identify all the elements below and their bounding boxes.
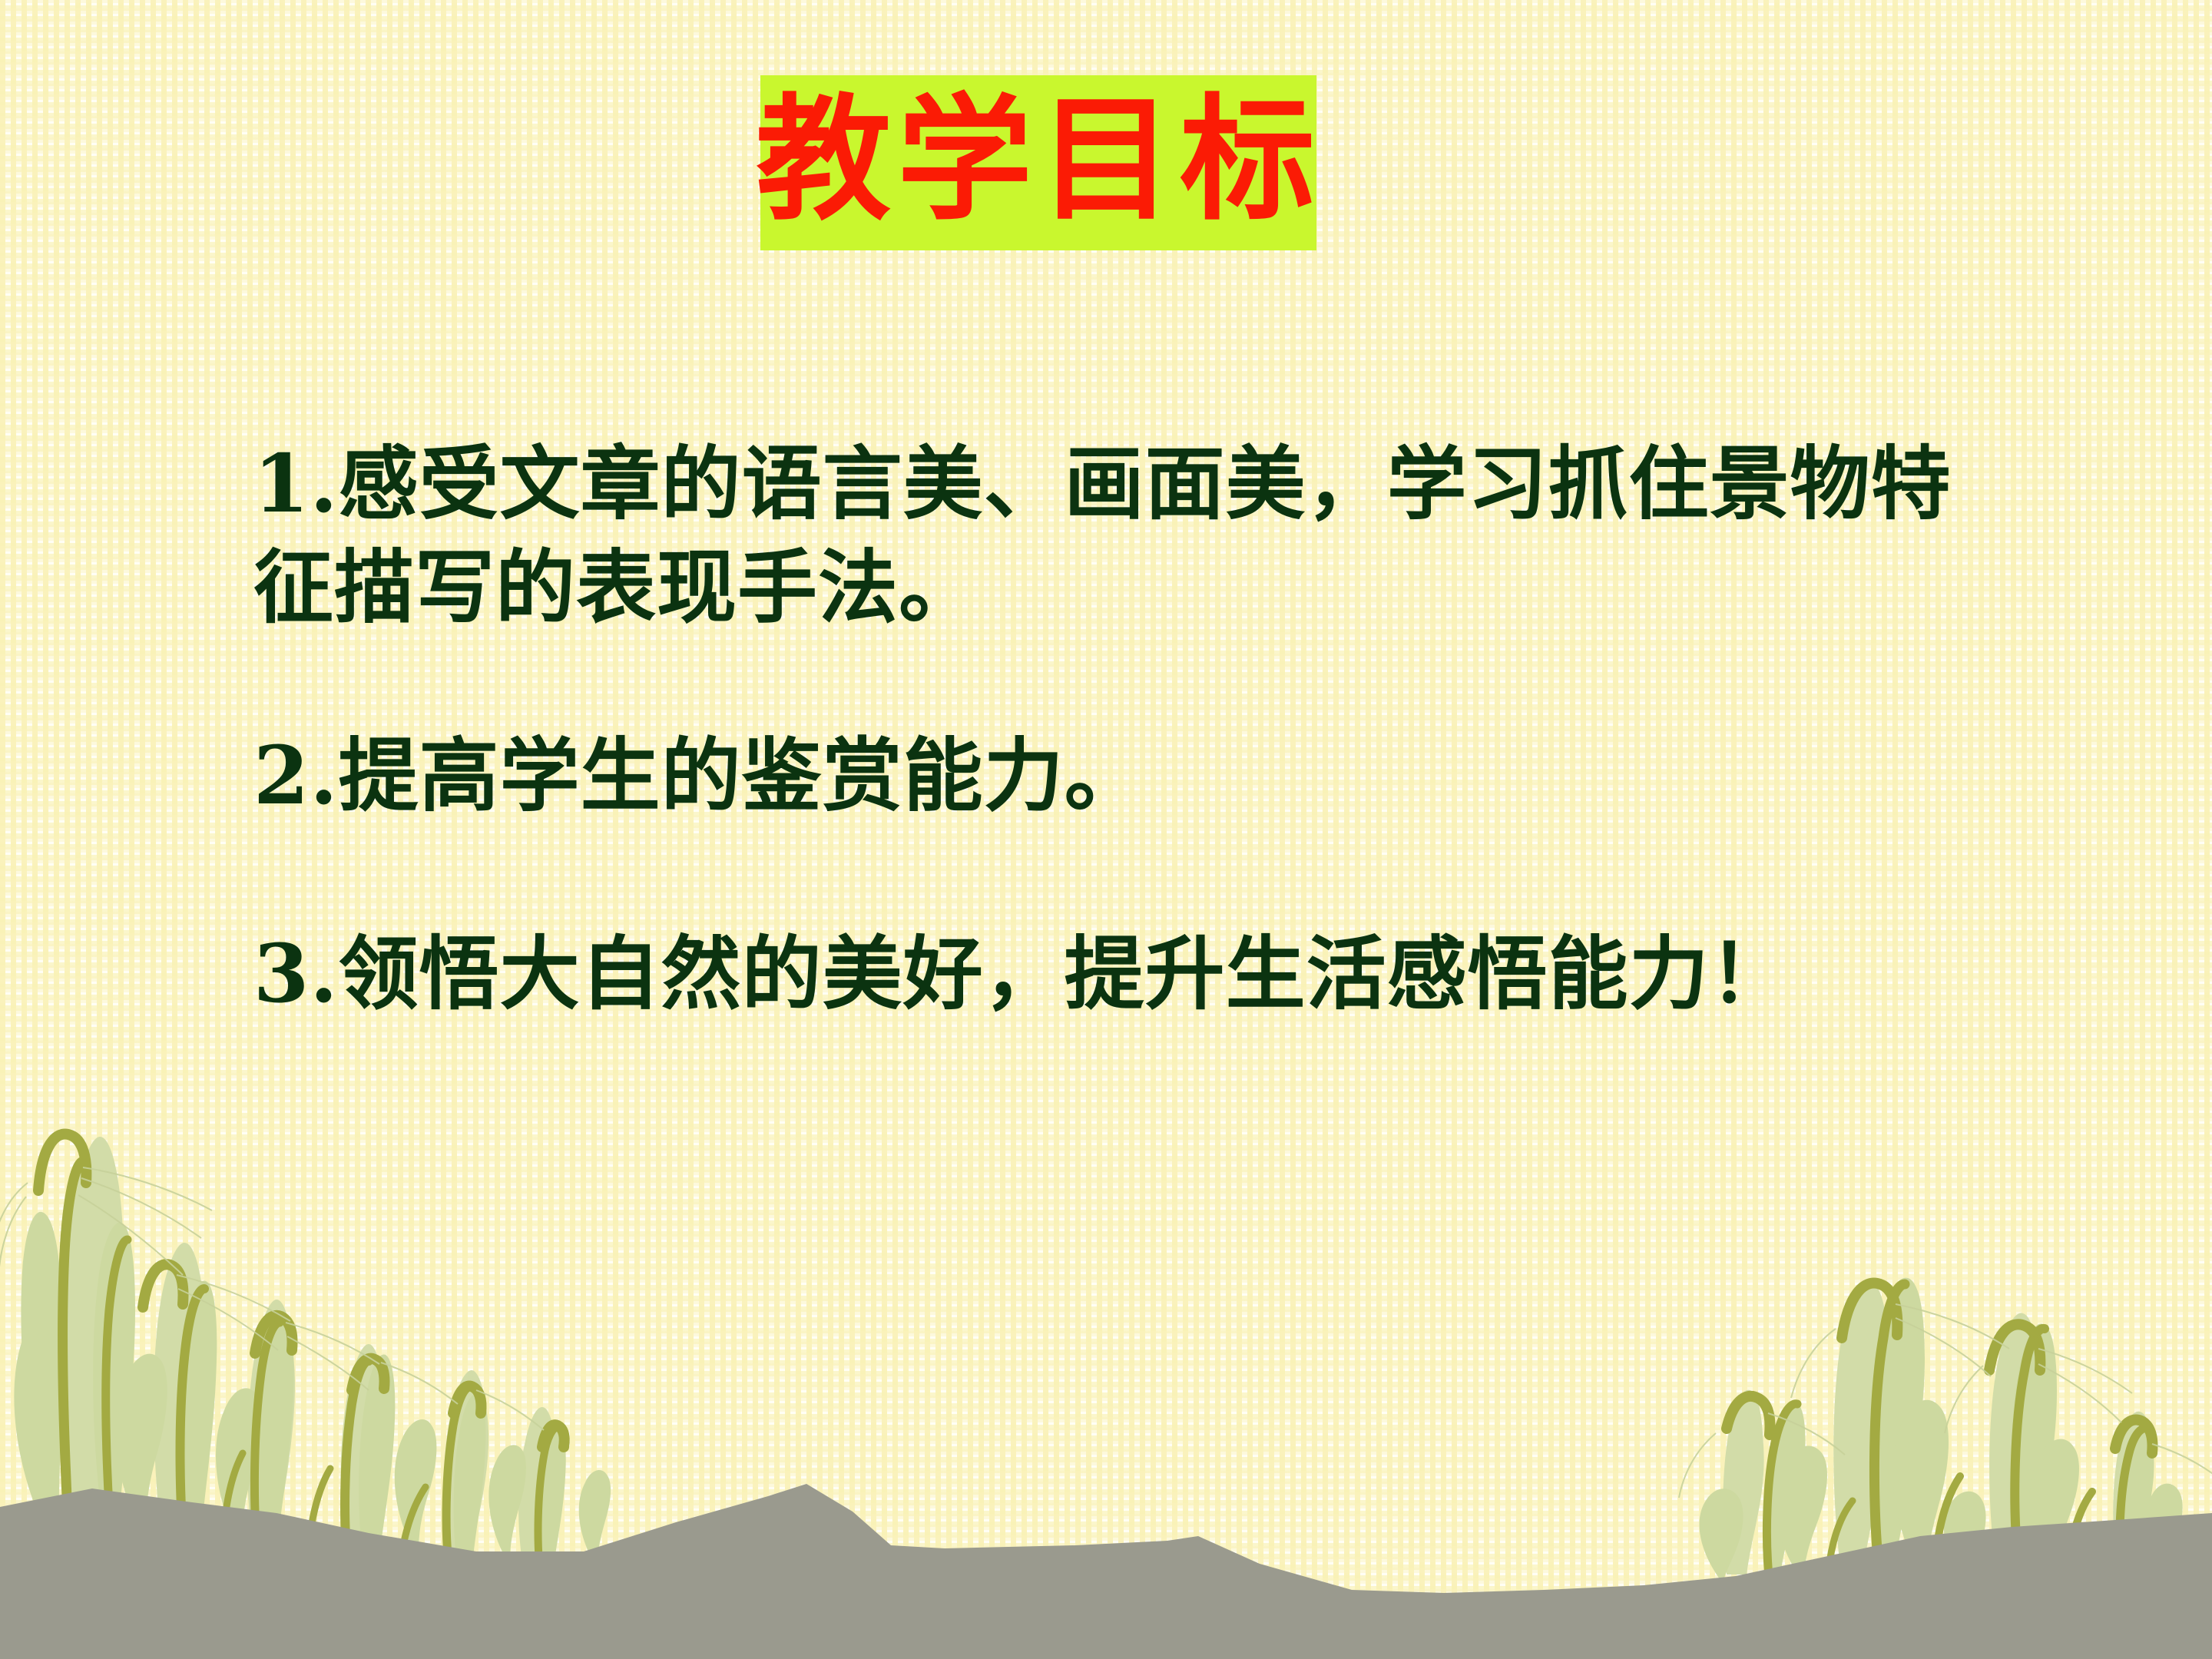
page-title: 教学目标 (756, 92, 1321, 233)
objective-item-2: 2.提高学生的鉴赏能力。 (253, 724, 2028, 827)
slide-canvas: 教学目标 1.感受文章的语言美、画面美，学习抓住景物特征描写的表现手法。 2.提… (0, 0, 2212, 1659)
objective-item-1: 1.感受文章的语言美、画面美，学习抓住景物特征描写的表现手法。 (253, 432, 2020, 639)
title-highlight-box: 教学目标 (760, 75, 1316, 250)
ground-silhouette (0, 1398, 2212, 1659)
objectives-list: 1.感受文章的语言美、画面美，学习抓住景物特征描写的表现手法。 2.提高学生的鉴… (253, 432, 2028, 1025)
